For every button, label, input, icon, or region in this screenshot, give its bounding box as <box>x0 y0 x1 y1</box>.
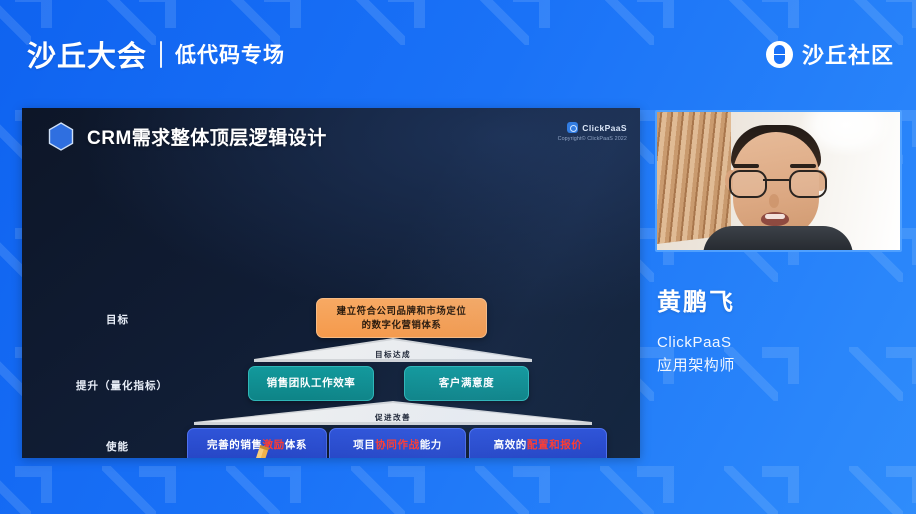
page-header: 沙丘大会 低代码专场 沙丘社区 <box>0 0 916 108</box>
row-label-enablement: 使能 <box>106 439 129 454</box>
presenter-info: 黄鹏飞 ClickPaaS 应用架构师 <box>657 282 735 378</box>
enablement-box-2-highlight: 协同作战 <box>375 438 419 454</box>
slide-header: CRM需求整体顶层逻辑设计 <box>48 122 327 151</box>
clickpaas-brand-label: ClickPaaS <box>582 123 627 133</box>
presenter-org: ClickPaaS <box>657 331 735 354</box>
presenter-webcam[interactable] <box>655 110 902 252</box>
site-logo: 沙丘社区 <box>766 38 894 70</box>
goal-box-line2: 的数字化营销体系 <box>337 318 467 332</box>
slide-title: CRM需求整体顶层逻辑设计 <box>87 123 327 150</box>
goal-box: 建立符合公司品牌和市场定位 的数字化营销体系 <box>316 298 487 338</box>
enablement-box-3: 高效的配置和报价 <box>469 428 607 458</box>
event-brand-subtitle: 低代码专场 <box>175 39 285 69</box>
clickpaas-watermark: ClickPaaS Copyright© ClickPaaS 2022 <box>558 122 627 142</box>
chevron-label-1: 目标达成 <box>254 349 532 360</box>
presenter-shirt <box>703 226 853 252</box>
enablement-box-2-pre: 项目 <box>353 438 375 454</box>
presenter-eyebrow-right <box>790 164 816 168</box>
presenter-role: 应用架构师 <box>657 354 735 377</box>
presenter-name: 黄鹏飞 <box>657 282 735 317</box>
presentation-slide[interactable]: CRM需求整体顶层逻辑设计 ClickPaaS Copyright© Click… <box>22 108 640 458</box>
presenter-glasses <box>727 170 827 194</box>
metric-box-1: 销售团队工作效率 <box>248 366 374 401</box>
presenter-eyebrow-left <box>733 164 759 168</box>
event-brand: 沙丘大会 低代码专场 <box>27 33 285 75</box>
vertical-divider <box>160 41 162 68</box>
enablement-box-2-post: 能力 <box>420 438 442 454</box>
s-circle-icon <box>766 41 793 68</box>
clickpaas-logo-icon <box>567 122 578 133</box>
enablement-box-2: 项目协同作战能力 <box>329 428 466 458</box>
row-label-metrics: 提升（量化指标） <box>76 378 168 393</box>
enablement-box-3-highlight: 配置和报价 <box>527 438 583 454</box>
chevron-improvement: 促进改善 <box>194 401 592 425</box>
webcam-blinds <box>657 110 731 244</box>
goal-box-line1: 建立符合公司品牌和市场定位 <box>337 304 467 318</box>
site-logo-label: 沙丘社区 <box>802 38 894 70</box>
copyright-text: Copyright© ClickPaaS 2022 <box>558 136 627 142</box>
metric-box-2: 客户满意度 <box>404 366 529 401</box>
chevron-goal-achievement: 目标达成 <box>254 338 532 362</box>
enablement-box-1-post: 体系 <box>285 438 307 454</box>
event-brand-main: 沙丘大会 <box>27 33 147 75</box>
row-label-goal: 目标 <box>106 312 129 327</box>
hexagon-icon <box>48 122 74 151</box>
presenter-nose <box>769 194 779 208</box>
enablement-box-3-pre: 高效的 <box>494 438 527 454</box>
chevron-label-2: 促进改善 <box>194 412 592 423</box>
presenter-mouth <box>761 212 789 226</box>
